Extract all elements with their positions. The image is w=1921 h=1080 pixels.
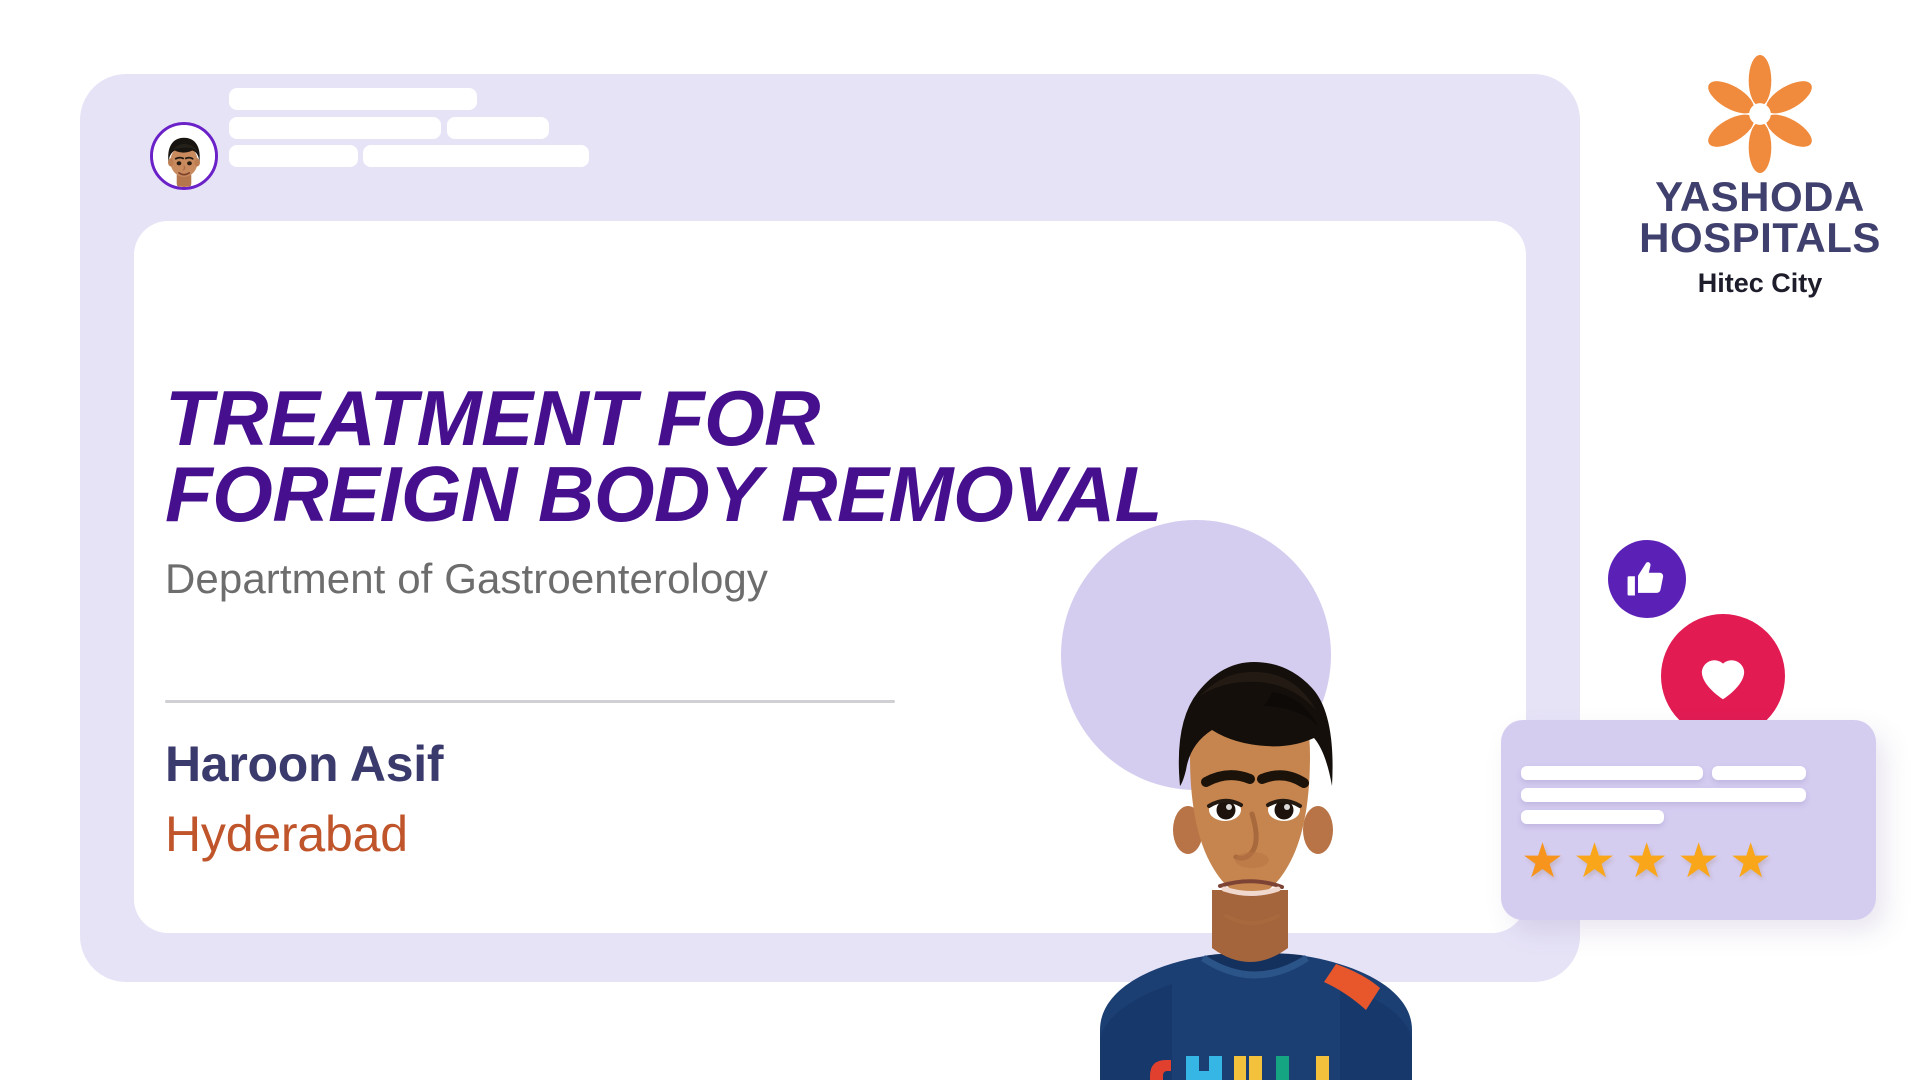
thumbs-up-icon xyxy=(1625,557,1669,601)
review-skeleton-bar xyxy=(1521,810,1664,824)
review-skeleton-bar xyxy=(1521,766,1703,780)
brand-logo: YASHODA HOSPITALS Hitec City xyxy=(1610,55,1910,299)
patient-photo-illustration xyxy=(1040,560,1460,1080)
review-skeleton-bar xyxy=(1521,788,1806,802)
review-skeleton-bar xyxy=(1712,766,1806,780)
brand-location: Hitec City xyxy=(1610,268,1910,299)
patient-photo xyxy=(1040,560,1460,1080)
review-card xyxy=(1501,720,1876,920)
star-icon: ★ xyxy=(1729,838,1772,886)
title-line-2: FOREIGN BODY REMOVAL xyxy=(165,456,1465,532)
star-rating: ★ ★ ★ ★ ★ xyxy=(1521,838,1772,886)
flower-icon xyxy=(1701,55,1819,173)
avatar-illustration xyxy=(153,125,215,187)
header-skeleton-bar xyxy=(229,145,358,167)
heart-icon xyxy=(1692,645,1754,707)
star-icon: ★ xyxy=(1625,838,1668,886)
star-icon: ★ xyxy=(1521,838,1564,886)
title-line-1: TREATMENT FOR xyxy=(165,374,820,462)
content-divider xyxy=(165,700,895,703)
star-icon: ★ xyxy=(1573,838,1616,886)
thumbs-up-badge xyxy=(1608,540,1686,618)
brand-name-line-2: HOSPITALS xyxy=(1610,218,1910,259)
header-skeleton-bar xyxy=(229,88,477,110)
header-skeleton-bar xyxy=(229,117,441,139)
star-icon: ★ xyxy=(1677,838,1720,886)
page-title: TREATMENT FOR FOREIGN BODY REMOVAL xyxy=(165,380,1465,533)
patient-city: Hyderabad xyxy=(165,805,408,863)
testimonial-banner: TREATMENT FOR FOREIGN BODY REMOVAL Depar… xyxy=(0,0,1921,1080)
patient-name: Haroon Asif xyxy=(165,735,443,793)
brand-name-line-1: YASHODA xyxy=(1610,177,1910,218)
patient-avatar xyxy=(150,122,218,190)
header-skeleton-bar xyxy=(363,145,589,167)
header-skeleton-bar xyxy=(447,117,549,139)
